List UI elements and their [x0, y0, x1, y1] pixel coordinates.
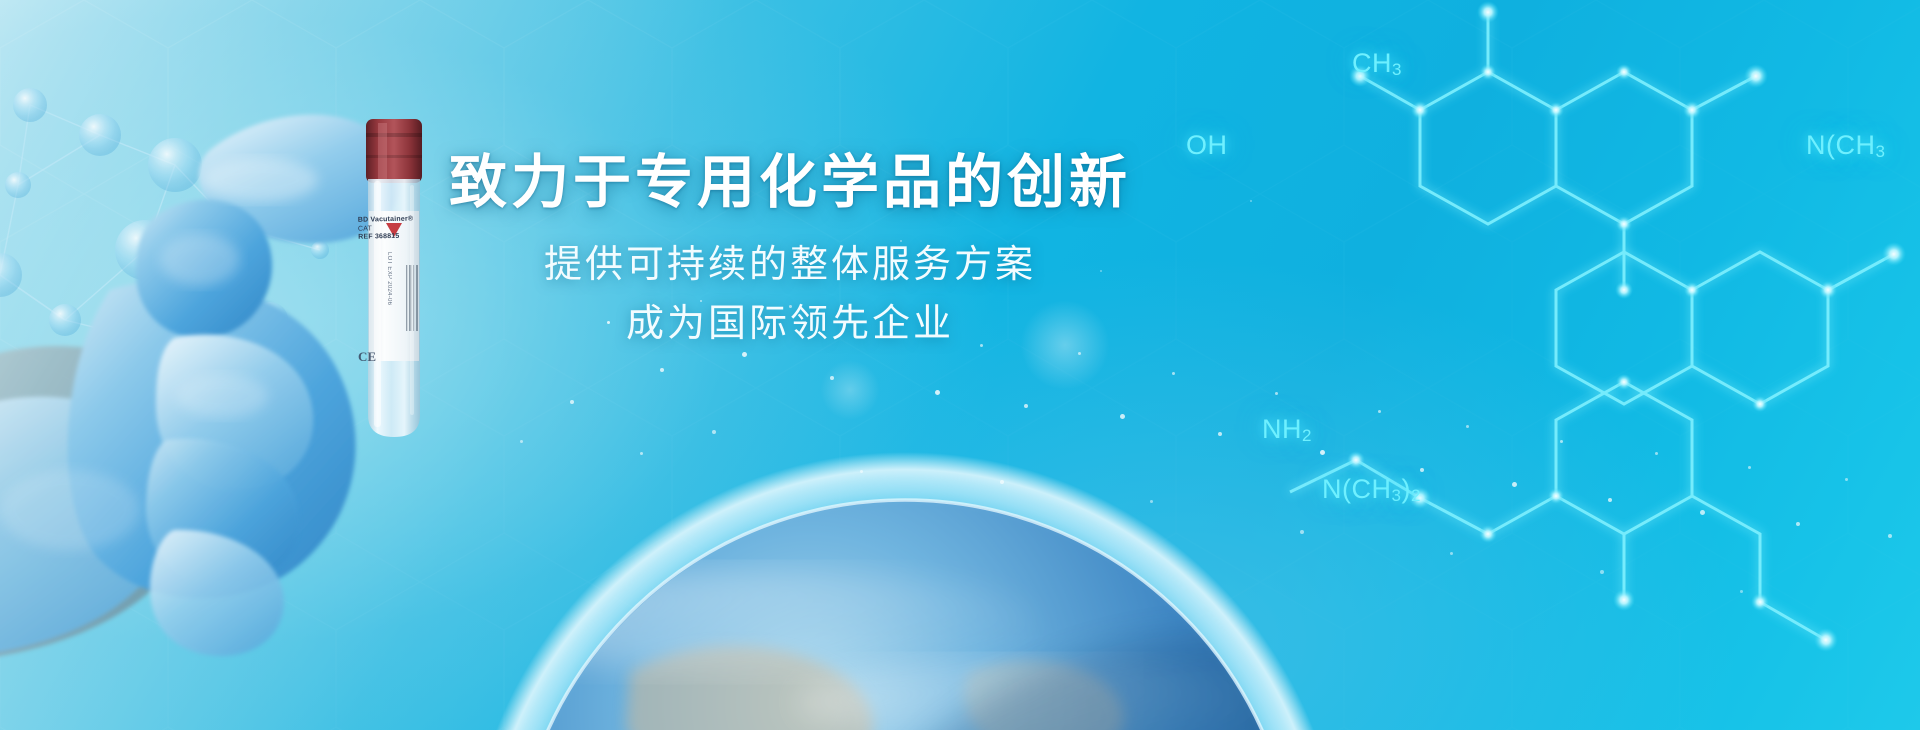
chem-label-nh2: NH2: [1262, 414, 1312, 446]
hero-subtitle-line-2: 成为国际领先企业: [0, 296, 1580, 354]
chem-label-nch3-right: N(CH3: [1806, 130, 1885, 162]
page-title: 致力于专用化学品的创新: [0, 152, 1580, 215]
chem-label-ch3: CH3: [1352, 48, 1402, 80]
hero-copy-block: 致力于专用化学品的创新 提供可持续的整体服务方案 成为国际领先企业: [0, 152, 1580, 354]
hero-subtitle-line-1: 提供可持续的整体服务方案: [0, 237, 1580, 295]
lens-flare-glow-2: [820, 360, 880, 420]
hero-subtitle: 提供可持续的整体服务方案 成为国际领先企业: [0, 237, 1580, 355]
hero-banner: BD Vacutainer® CAT REF 368815 LOT EXP 20…: [0, 0, 1920, 730]
chem-label-nch3-2: N(CH3)2: [1322, 474, 1421, 506]
